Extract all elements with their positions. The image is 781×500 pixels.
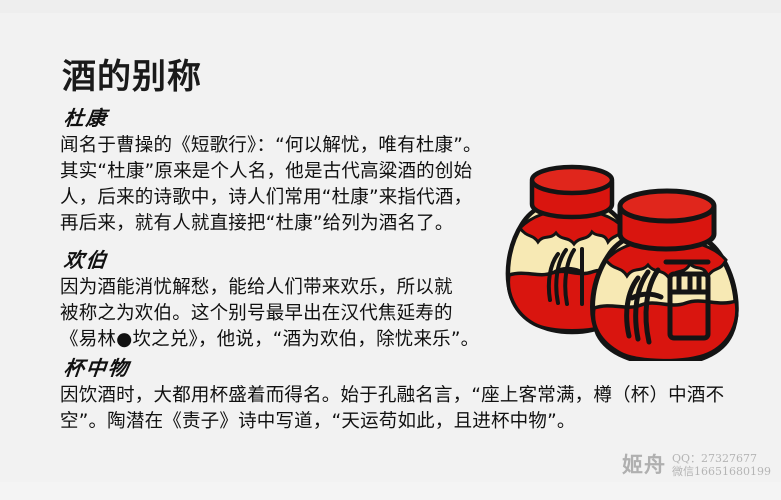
wine-jars-illustration — [486, 146, 774, 361]
page-title: 酒的别称 — [62, 59, 202, 96]
section-heading-beizhongwu: 杯中物 — [63, 358, 131, 378]
section-dukang: 杜康 闻名于曹操的《短歌行》：“何以解忧，唯有杜康”。 其实“杜康”原来是个人名… — [60, 108, 512, 237]
watermark-contact: QQ：27327677 微信16651680199 — [672, 452, 771, 478]
section-beizhongwu: 杯中物 因饮酒时，大都用杯盛着而得名。始于孔融名言，“座上客常满，樽（杯）中酒不… — [60, 358, 750, 435]
slide-canvas: 酒的别称 杜康 闻名于曹操的《短歌行》：“何以解忧，唯有杜康”。 其实“杜康”原… — [0, 0, 781, 500]
bottom-band — [0, 482, 781, 500]
watermark-name: 姬舟 — [622, 455, 666, 476]
top-band — [0, 0, 781, 13]
section-huanbo: 欢伯 因为酒能消忧解愁，能给人们带来欢乐，所以就 被称之为欢伯。这个别号最早出在… — [60, 250, 512, 353]
section-heading-huanbo: 欢伯 — [63, 250, 109, 270]
section-body-huanbo: 因为酒能消忧解愁，能给人们带来欢乐，所以就 被称之为欢伯。这个别号最早出在汉代焦… — [60, 275, 512, 353]
section-heading-dukang: 杜康 — [63, 108, 109, 128]
section-body-beizhongwu: 因饮酒时，大都用杯盛着而得名。始于孔融名言，“座上客常满，樽（杯）中酒不 空”。… — [60, 383, 750, 435]
section-body-dukang: 闻名于曹操的《短歌行》：“何以解忧，唯有杜康”。 其实“杜康”原来是个人名，他是… — [60, 133, 512, 237]
watermark-wechat: 微信16651680199 — [672, 465, 771, 478]
watermark: 姬舟 QQ：27327677 微信16651680199 — [622, 452, 771, 478]
watermark-qq: QQ：27327677 — [672, 452, 757, 465]
